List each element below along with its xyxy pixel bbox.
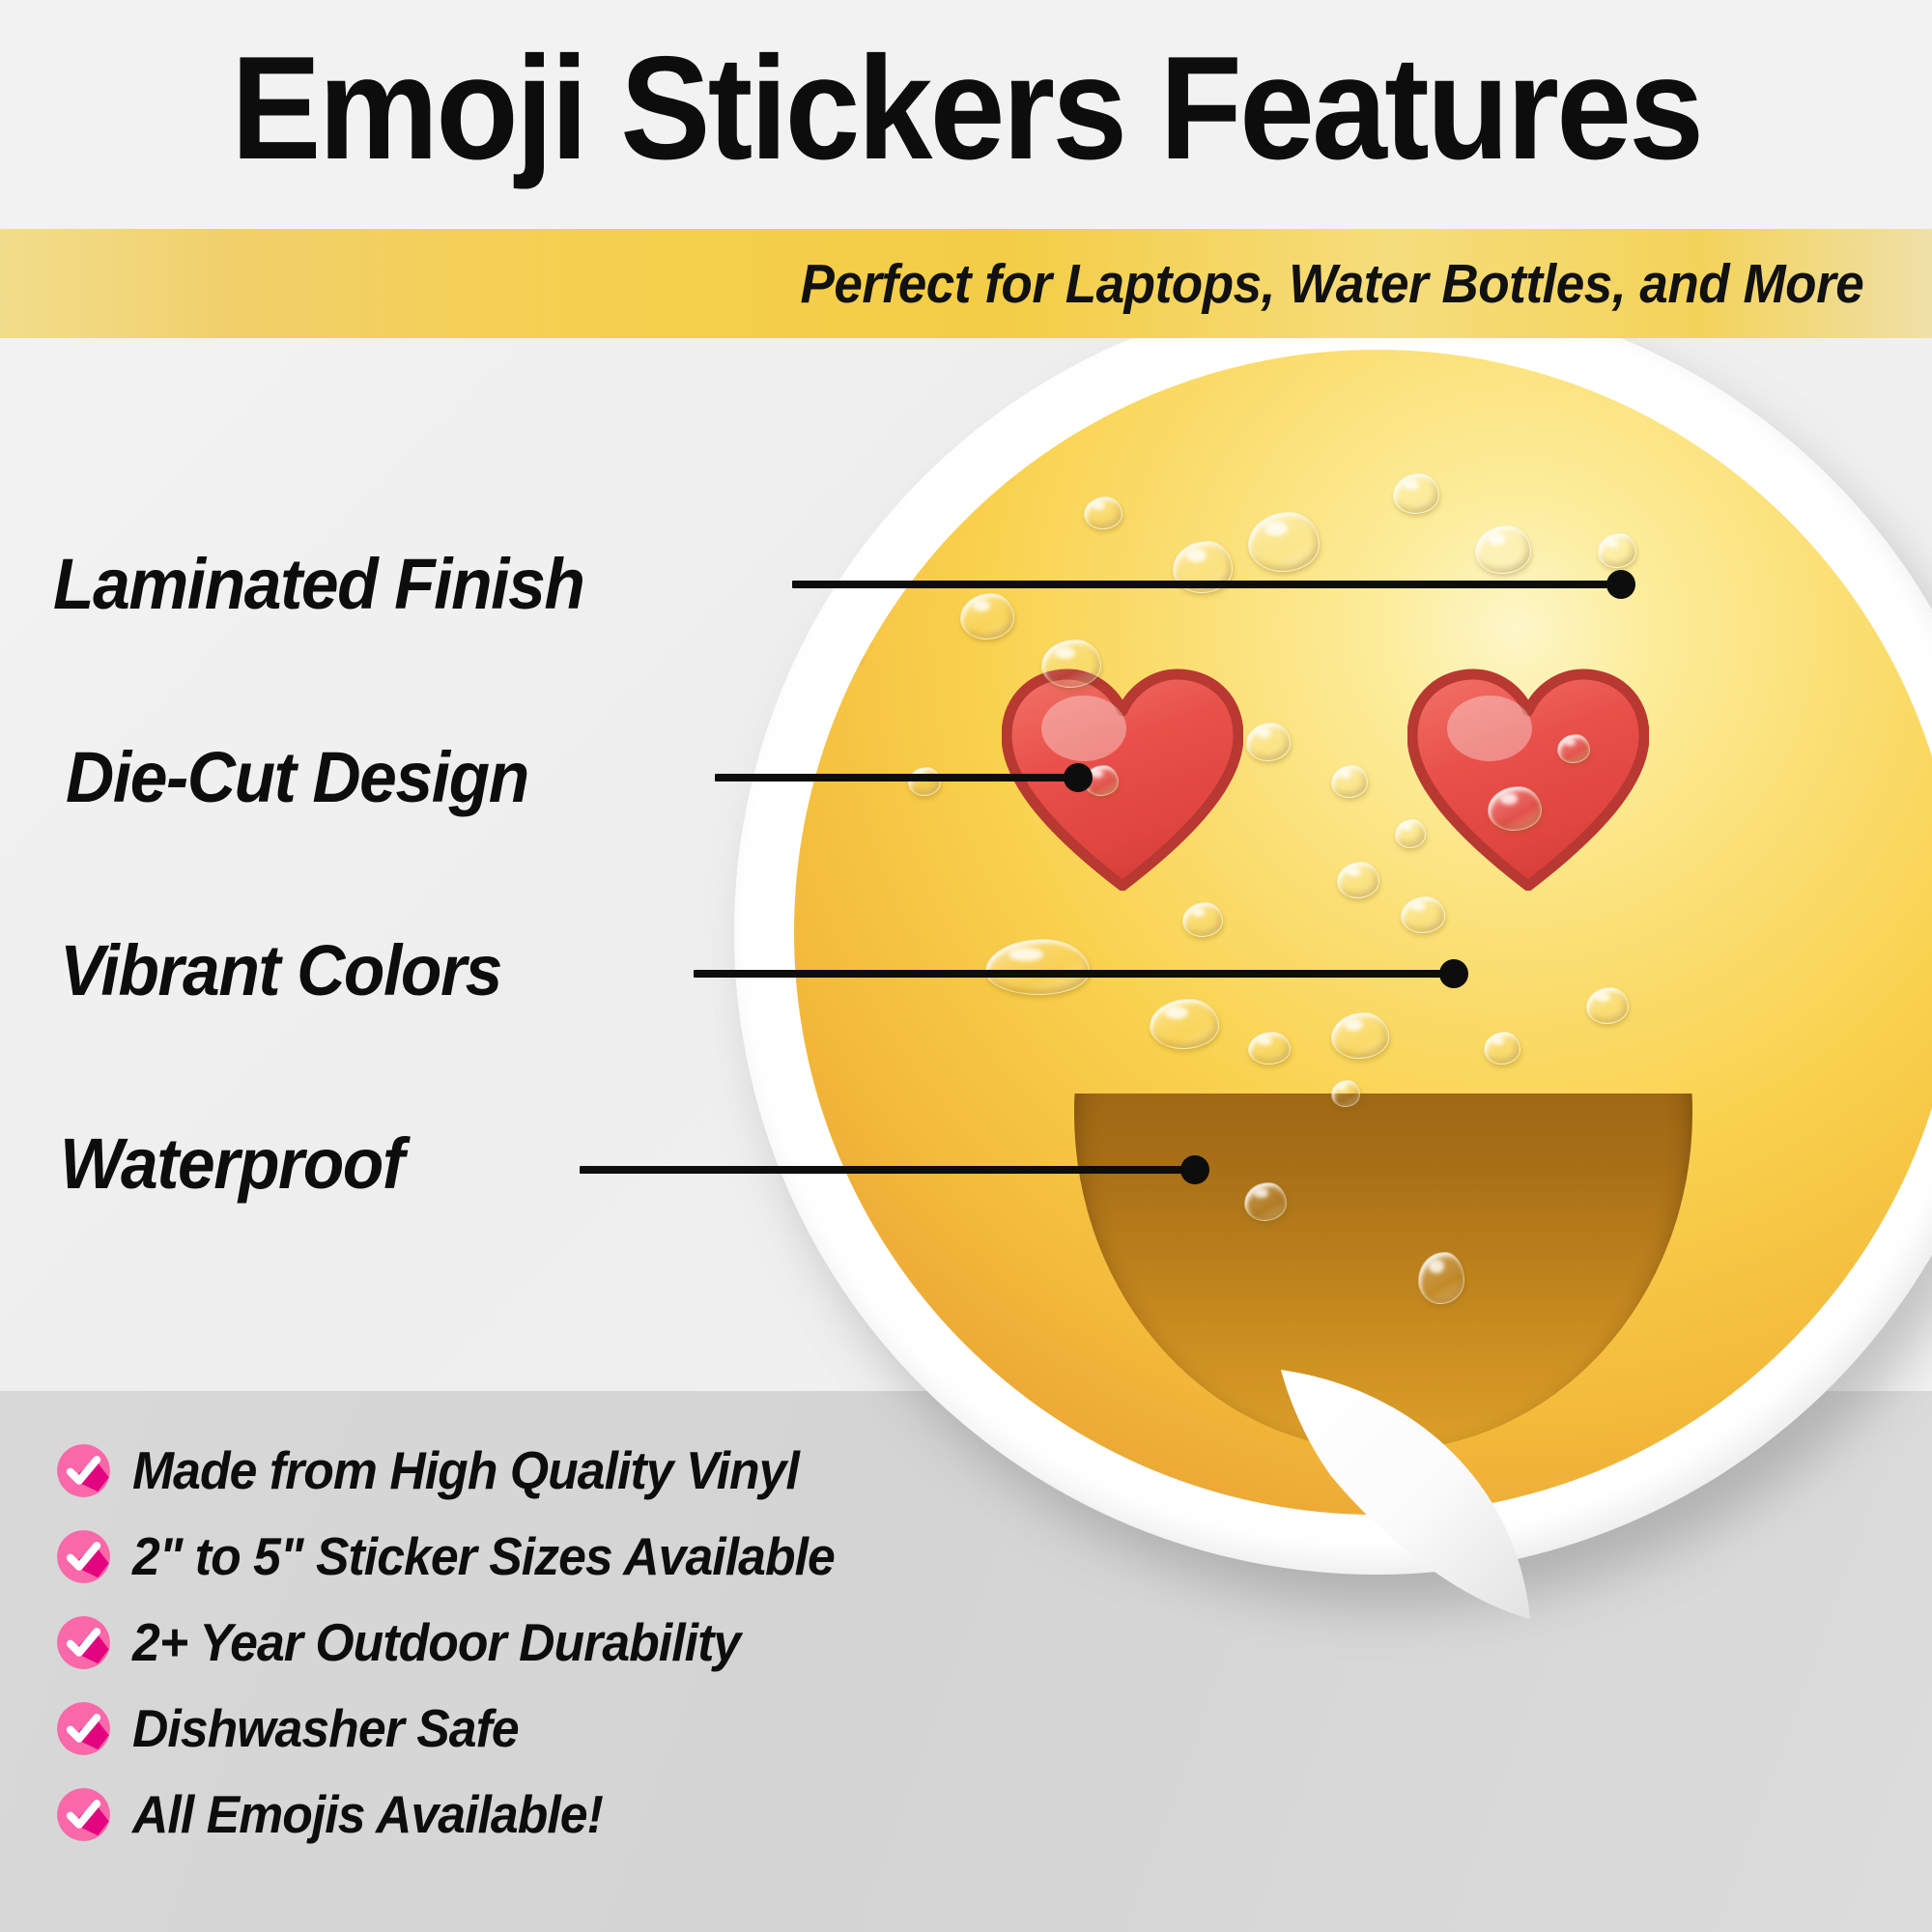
- leader-line-die-cut-design: [715, 774, 1074, 781]
- feature-label-vibrant-colors: Vibrant Colors: [60, 935, 501, 1007]
- list-item: 2+ Year Outdoor Durability: [56, 1600, 1138, 1686]
- leader-dot-waterproof: [1180, 1155, 1209, 1184]
- list-item: Made from High Quality Vinyl: [56, 1428, 1138, 1514]
- feature-bullet-list: Made from High Quality Vinyl 2" to 5" St…: [56, 1428, 1138, 1858]
- leader-line-laminated-finish: [792, 581, 1623, 588]
- feature-label-laminated-finish: Laminated Finish: [53, 549, 583, 620]
- sticker-peel-corner: [1271, 1360, 1561, 1650]
- leader-dot-die-cut-design: [1064, 763, 1093, 792]
- list-item-label: All Emojis Available!: [132, 1788, 603, 1841]
- page-subtitle: Perfect for Laptops, Water Bottles, and …: [801, 252, 1891, 316]
- check-circle-icon: [56, 1701, 111, 1756]
- check-circle-icon: [56, 1529, 111, 1584]
- page-header: Emoji Stickers Features: [0, 0, 1932, 229]
- list-item: 2" to 5" Sticker Sizes Available: [56, 1514, 1138, 1600]
- leader-dot-laminated-finish: [1606, 570, 1635, 599]
- list-item-label: 2+ Year Outdoor Durability: [132, 1616, 740, 1669]
- list-item-label: Dishwasher Safe: [132, 1702, 519, 1755]
- check-circle-icon: [56, 1443, 111, 1498]
- leader-line-waterproof: [580, 1166, 1198, 1174]
- list-item-label: Made from High Quality Vinyl: [132, 1444, 799, 1497]
- list-item: All Emojis Available!: [56, 1772, 1138, 1858]
- leader-dot-vibrant-colors: [1439, 959, 1468, 988]
- feature-label-die-cut-design: Die-Cut Design: [66, 742, 528, 813]
- list-item-label: 2" to 5" Sticker Sizes Available: [132, 1530, 835, 1583]
- page-title: Emoji Stickers Features: [231, 35, 1701, 195]
- check-circle-icon: [56, 1787, 111, 1842]
- check-circle-icon: [56, 1615, 111, 1670]
- subtitle-banner: Perfect for Laptops, Water Bottles, and …: [0, 229, 1932, 338]
- feature-label-waterproof: Waterproof: [60, 1128, 404, 1200]
- leader-line-vibrant-colors: [694, 970, 1463, 978]
- infographic-page: Emoji Stickers Features Perfect for Lapt…: [0, 0, 1932, 1932]
- list-item: Dishwasher Safe: [56, 1686, 1138, 1772]
